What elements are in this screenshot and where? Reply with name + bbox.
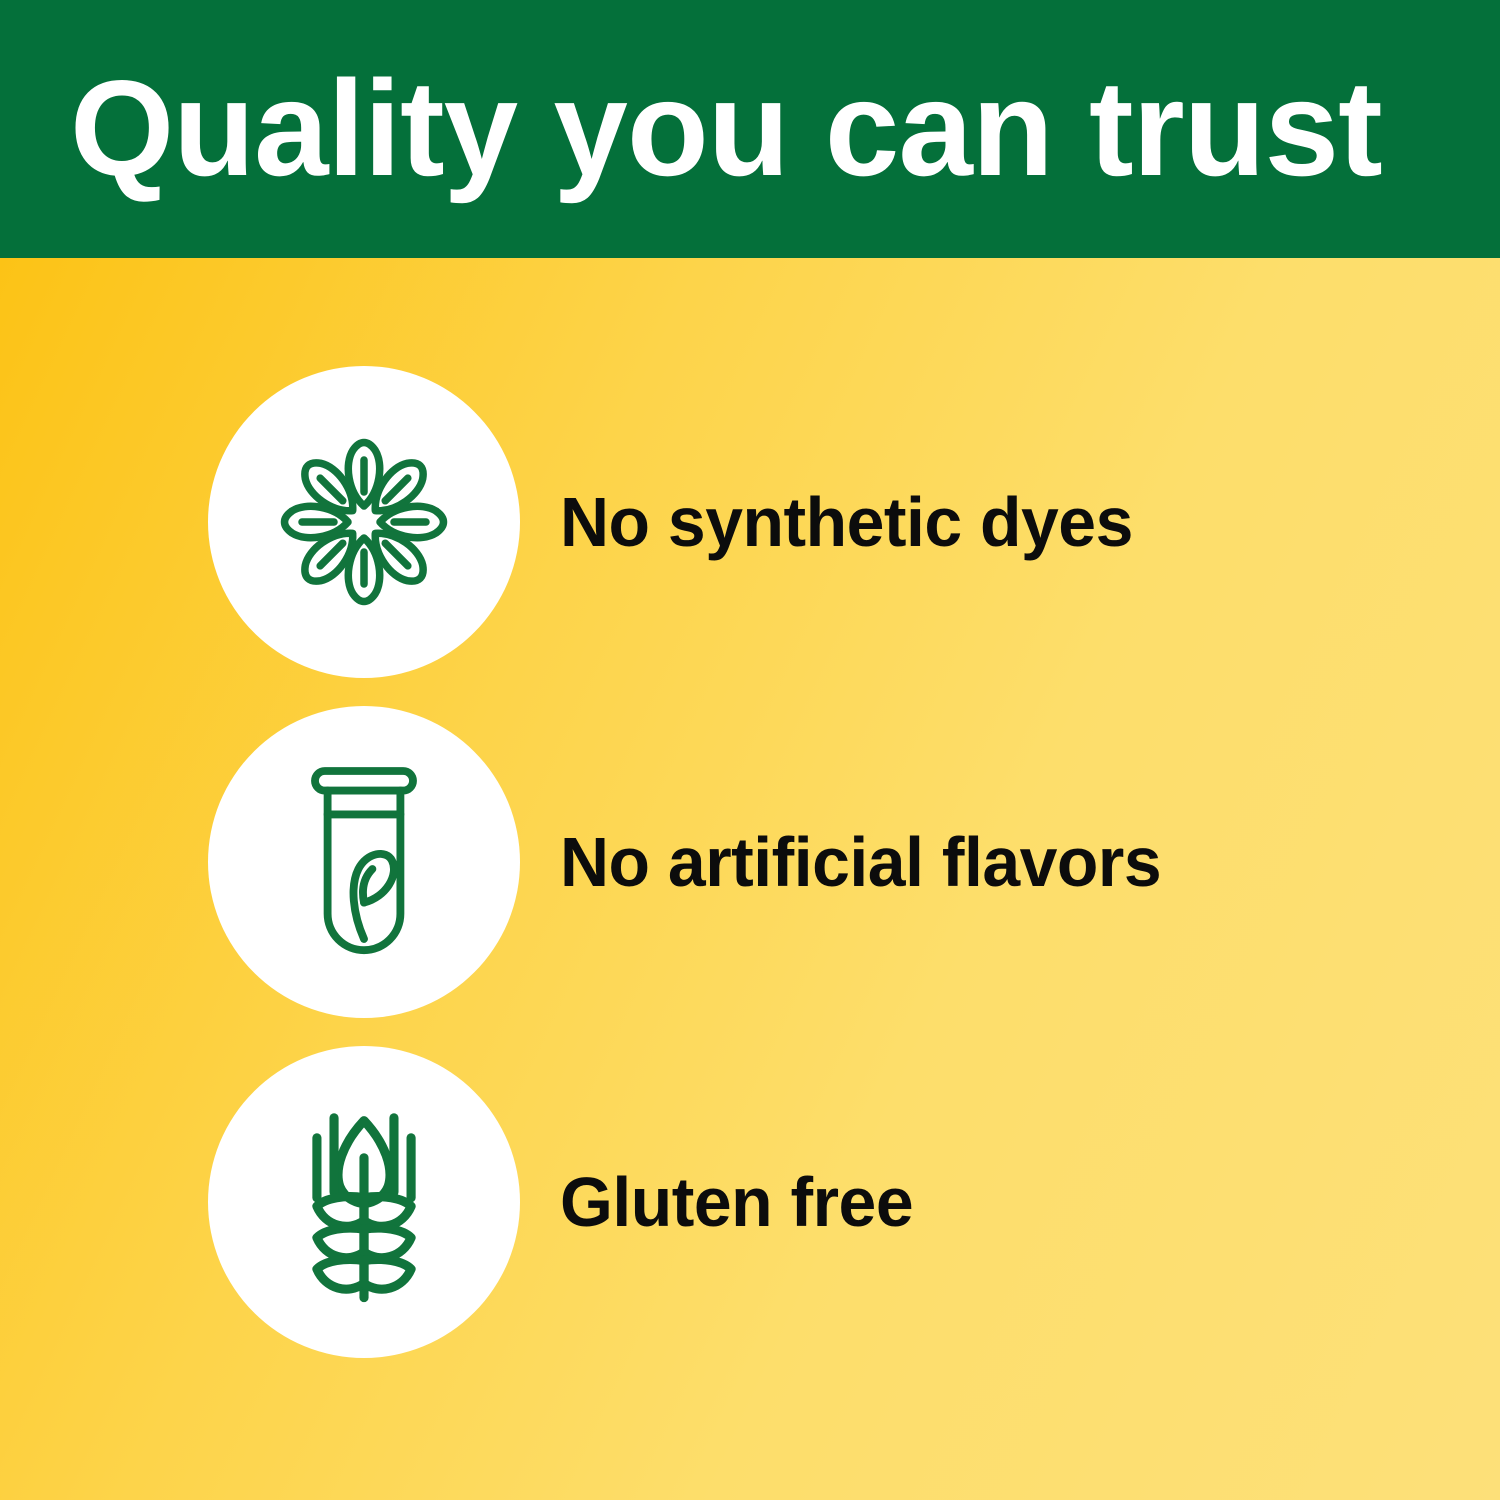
feature-row: Gluten free [0, 1046, 1500, 1358]
wheat-stalk-icon [266, 1095, 462, 1309]
icon-badge [208, 366, 520, 678]
feature-label: No synthetic dyes [560, 483, 1133, 561]
feature-label: Gluten free [560, 1163, 913, 1241]
feature-row: No synthetic dyes [0, 366, 1500, 678]
features-panel: No synthetic dyes [0, 258, 1500, 1500]
icon-badge [208, 1046, 520, 1358]
feature-label: No artificial flavors [560, 823, 1161, 901]
header-banner: Quality you can trust [0, 0, 1500, 258]
icon-badge [208, 706, 520, 1018]
test-tube-leaf-icon [278, 757, 450, 967]
page-title: Quality you can trust [70, 60, 1449, 196]
quality-claims-poster: Quality you can trust [0, 0, 1500, 1500]
feature-row: No artificial flavors [0, 706, 1500, 1018]
flower-petals-icon [264, 422, 464, 622]
